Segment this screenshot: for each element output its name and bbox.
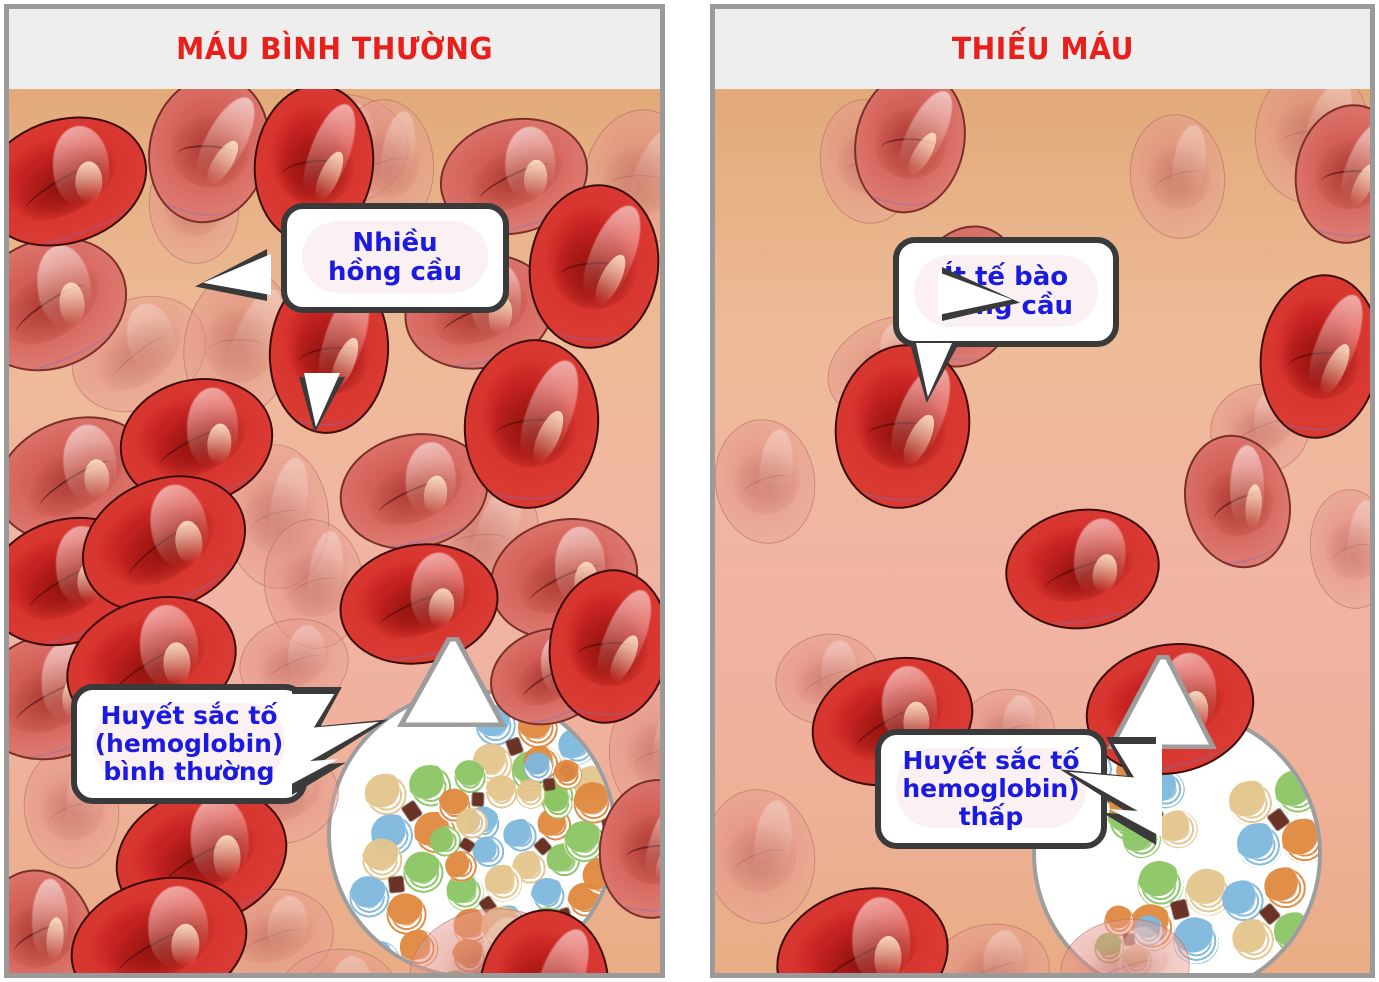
rbc-highlight bbox=[328, 955, 374, 973]
callout-tail-many-rbc-down bbox=[299, 377, 345, 433]
magnifier-connector-normal bbox=[397, 637, 507, 727]
panel-anemia: THIẾU MÁU Ít tế bào hồng cầu bbox=[710, 4, 1375, 978]
heme-group bbox=[389, 877, 404, 894]
plasma-field-normal: Nhiều hồng cầu Huyết sắc tố (hemoglobin)… bbox=[9, 89, 660, 973]
callout-line: Huyết sắc tố bbox=[95, 702, 284, 730]
rbc-highlight-secondary bbox=[213, 836, 240, 881]
magnifier-connector-anemia bbox=[1107, 655, 1217, 749]
rbc-highlight-secondary bbox=[75, 162, 102, 203]
page-title-anemia: THIẾU MÁU bbox=[951, 32, 1133, 67]
callout-line: hồng cầu bbox=[328, 258, 462, 287]
callout-tail-low-hb-zigzag bbox=[1060, 737, 1156, 845]
callout-line: (hemoglobin) bbox=[95, 730, 284, 758]
red-blood-cell bbox=[1124, 109, 1232, 243]
callout-many-rbc[interactable]: Nhiều hồng cầu bbox=[281, 203, 509, 313]
infographic-root: MÁU BÌNH THƯỜNG Nhiều hồng cầu bbox=[0, 0, 1379, 982]
panel-normal-blood: MÁU BÌNH THƯỜNG Nhiều hồng cầu bbox=[4, 4, 665, 978]
panel-header-anemia: THIẾU MÁU bbox=[715, 9, 1370, 89]
red-blood-cell bbox=[1304, 485, 1370, 613]
red-blood-cell bbox=[715, 413, 823, 551]
callout-line: bình thường bbox=[95, 758, 284, 786]
rbc-body bbox=[997, 499, 1167, 639]
rbc-body bbox=[1124, 109, 1232, 243]
red-blood-cell bbox=[997, 499, 1167, 639]
rbc-highlight bbox=[982, 929, 1026, 973]
hemoglobin-molecule bbox=[1218, 863, 1322, 967]
callout-tail-many-rbc-left bbox=[195, 249, 267, 301]
heme-group bbox=[544, 778, 555, 790]
callout-tail-few-rbc-down bbox=[911, 347, 957, 403]
rbc-body bbox=[1304, 485, 1370, 613]
callout-normal-hemoglobin[interactable]: Huyết sắc tố (hemoglobin) bình thường bbox=[71, 684, 307, 804]
rbc-highlight bbox=[265, 894, 311, 959]
plasma-field-anemia: Ít tế bào hồng cầu Huyết sắc tố hemoglob… bbox=[715, 89, 1370, 973]
rbc-highlight bbox=[1115, 924, 1165, 973]
callout-line: Nhiều bbox=[328, 229, 462, 258]
globin-subunit bbox=[1219, 876, 1269, 926]
rbc-highlight bbox=[287, 625, 326, 684]
callout-tail-normal-hb-zigzag bbox=[292, 687, 388, 795]
hemoglobin-molecule bbox=[1226, 767, 1322, 873]
callout-tail-few-rbc-right bbox=[942, 267, 1020, 321]
callout-line: thấp bbox=[902, 803, 1079, 831]
rbc-body bbox=[715, 413, 823, 551]
callout-line: hemoglobin) bbox=[902, 775, 1079, 803]
page-title-normal: MÁU BÌNH THƯỜNG bbox=[176, 32, 493, 67]
panel-header-normal: MÁU BÌNH THƯỜNG bbox=[9, 9, 660, 89]
callout-line: Huyết sắc tố bbox=[902, 747, 1079, 775]
